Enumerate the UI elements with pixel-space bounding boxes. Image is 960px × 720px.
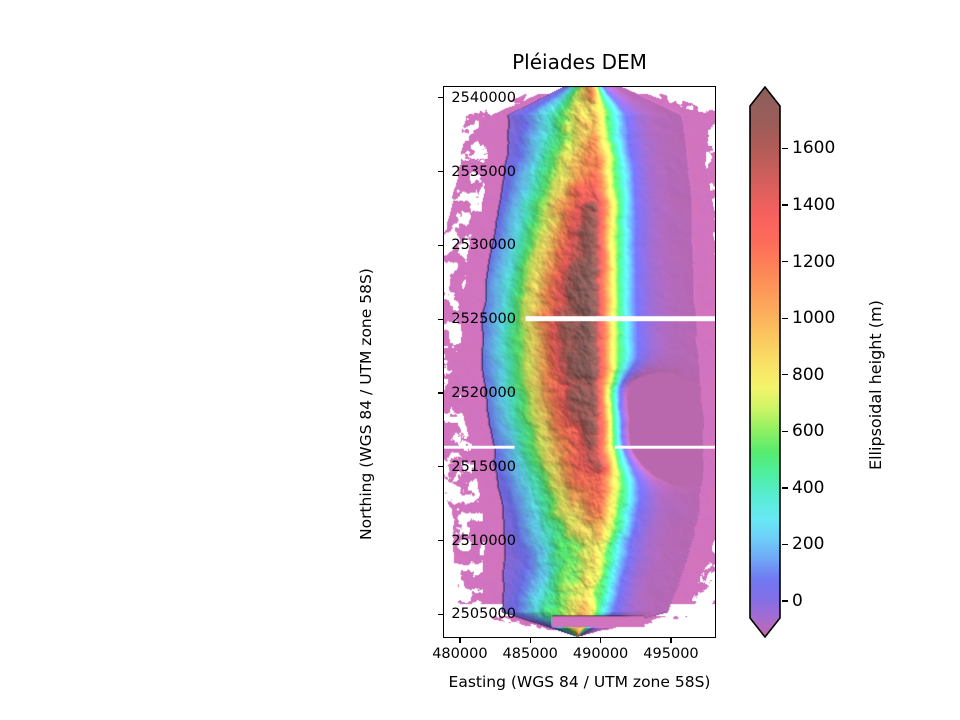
colorbar-tick-label: 400 <box>792 478 824 498</box>
y-tick-mark <box>438 319 443 320</box>
colorbar[interactable] <box>748 86 782 638</box>
y-tick-label: 2525000 <box>451 311 516 327</box>
colorbar-tick-mark <box>782 374 788 375</box>
x-tick-mark <box>530 638 531 643</box>
y-tick-mark <box>438 171 443 172</box>
page-title: Pléiades DEM <box>443 50 716 74</box>
colorbar-tick-mark <box>782 204 788 205</box>
x-tick-mark <box>670 638 671 643</box>
colorbar-tick-mark <box>782 544 788 545</box>
colorbar-tick-label: 1400 <box>792 195 835 215</box>
y-tick-mark <box>438 245 443 246</box>
colorbar-tick-label: 0 <box>792 591 803 611</box>
colorbar-tick-mark <box>782 148 788 149</box>
colorbar-tick-label: 1600 <box>792 138 835 158</box>
y-axis-label: Northing (WGS 84 / UTM zone 58S) <box>357 268 375 540</box>
y-tick-label: 2515000 <box>451 459 516 475</box>
y-tick-label: 2520000 <box>451 385 516 401</box>
colorbar-tick-mark <box>782 431 788 432</box>
y-tick-label: 2510000 <box>451 533 516 549</box>
colorbar-label: Ellipsoidal height (m) <box>866 300 885 470</box>
x-tick-label: 485000 <box>503 646 558 662</box>
x-axis-label: Easting (WGS 84 / UTM zone 58S) <box>443 673 716 691</box>
y-tick-label: 2535000 <box>451 164 516 180</box>
colorbar-tick-mark <box>782 487 788 488</box>
colorbar-gradient <box>748 86 782 638</box>
colorbar-tick-mark <box>782 600 788 601</box>
y-tick-mark <box>438 614 443 615</box>
colorbar-tick-label: 800 <box>792 365 824 385</box>
colorbar-tick-label: 1200 <box>792 252 835 272</box>
y-tick-label: 2505000 <box>451 606 516 622</box>
y-tick-label: 2540000 <box>451 90 516 106</box>
x-tick-mark <box>600 638 601 643</box>
colorbar-tick-mark <box>782 261 788 262</box>
matplotlib-figure: Pléiades DEM 250500025100002515000252000… <box>0 0 960 720</box>
y-tick-mark <box>438 97 443 98</box>
x-tick-mark <box>459 638 460 643</box>
y-tick-mark <box>438 540 443 541</box>
colorbar-tick-label: 600 <box>792 421 824 441</box>
colorbar-tick-label: 1000 <box>792 308 835 328</box>
y-tick-label: 2530000 <box>451 237 516 253</box>
colorbar-tick-mark <box>782 318 788 319</box>
x-tick-label: 495000 <box>643 646 698 662</box>
y-tick-mark <box>438 392 443 393</box>
x-tick-label: 490000 <box>573 646 628 662</box>
x-tick-label: 480000 <box>432 646 487 662</box>
y-tick-mark <box>438 466 443 467</box>
colorbar-tick-label: 200 <box>792 534 824 554</box>
